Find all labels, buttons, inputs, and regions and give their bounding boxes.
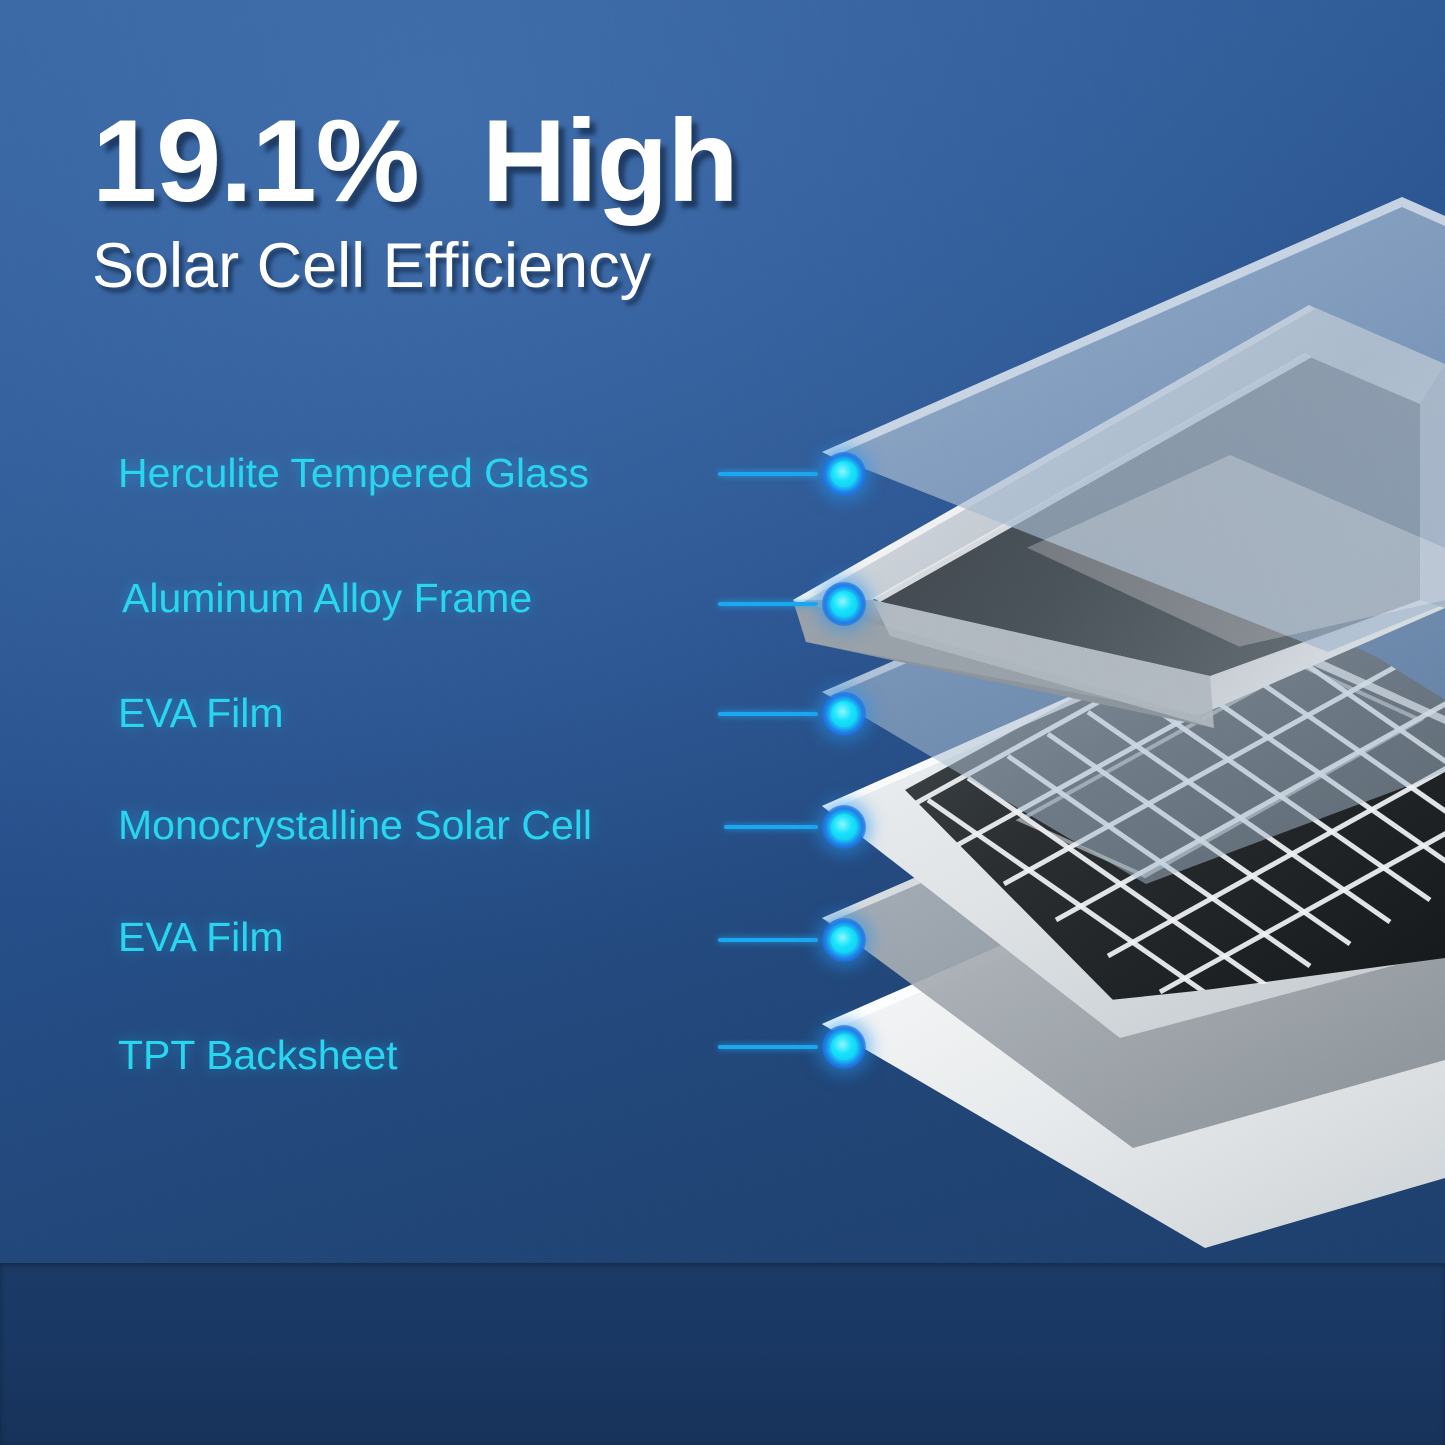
callout-dot-eva-top (822, 692, 866, 736)
callout-label-eva-top: EVA Film (118, 690, 284, 737)
callout-label-frame: Aluminum Alloy Frame (122, 575, 532, 622)
callout-frame: Aluminum Alloy Frame (122, 573, 532, 623)
callout-leader-line-glass (718, 472, 818, 476)
callout-leader-line-eva-bottom (718, 938, 818, 942)
callout-dot-tpt (822, 1025, 866, 1069)
lower-dark-band (0, 1263, 1445, 1445)
headline-block: 19.1% High Solar Cell Efficiency (92, 102, 852, 298)
callout-leader-line-cell (724, 825, 818, 829)
callout-label-cell: Monocrystalline Solar Cell (118, 802, 592, 849)
callout-eva-bottom: EVA Film (118, 912, 284, 962)
callout-label-glass: Herculite Tempered Glass (118, 450, 589, 497)
callout-label-eva-bottom: EVA Film (118, 914, 284, 961)
callout-eva-top: EVA Film (118, 688, 284, 738)
callout-glass: Herculite Tempered Glass (118, 448, 589, 498)
product-infographic: 19.1% High Solar Cell Efficiency Herculi… (0, 0, 1445, 1445)
callout-dot-eva-bottom (822, 918, 866, 962)
callout-dot-glass (822, 452, 866, 496)
callout-cell: Monocrystalline Solar Cell (118, 800, 592, 850)
callout-leader-line-tpt (718, 1045, 818, 1049)
page-subtitle: Solar Cell Efficiency (92, 235, 852, 298)
callout-leader-line-eva-top (718, 712, 818, 716)
callout-leader-line-frame (718, 602, 818, 606)
page-title: 19.1% High (92, 102, 852, 219)
callout-dot-cell (822, 805, 866, 849)
callout-dot-frame (822, 582, 866, 626)
callout-tpt: TPT Backsheet (118, 1030, 398, 1080)
callout-label-tpt: TPT Backsheet (118, 1032, 398, 1079)
